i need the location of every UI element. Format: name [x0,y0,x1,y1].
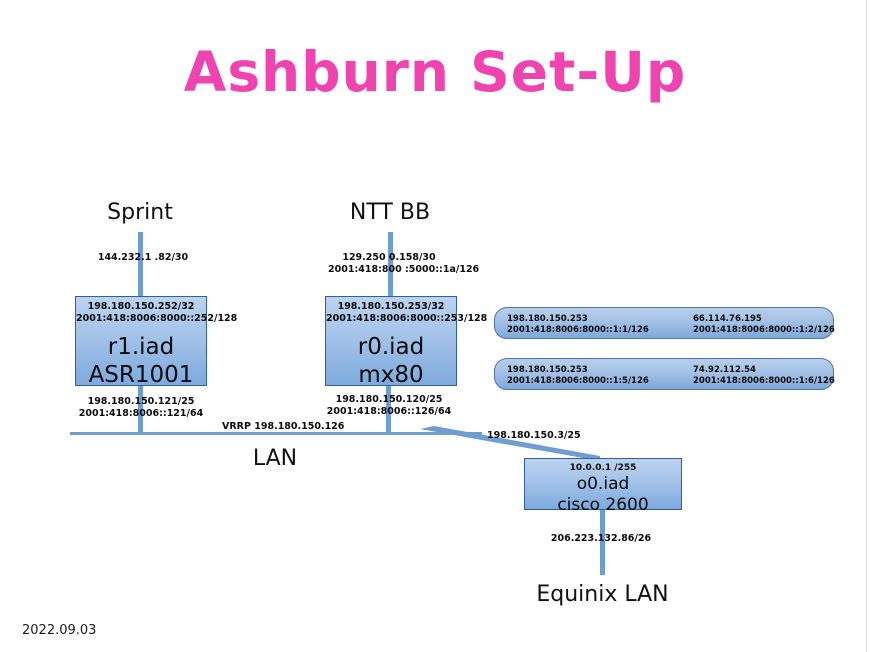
peer-2-local-ipv6: 2001:418:8006:8000::1:5/126 [507,376,649,387]
peer-2-local-ipv4: 198.180.150.253 [507,365,649,376]
router-r0-lan-ipv6: 2001:418:8006::126/64 [326,406,452,418]
ntt-uplink-ipv4: 129.250 0.158/30 [328,252,450,264]
router-r0-lan-ipv4: 198.180.150.120/25 [326,394,452,406]
router-r1-ipv4: 198.180.150.252/32 [76,297,206,313]
router-r0-name: r0.iad [326,325,456,361]
cloud-label-lan: LAN [220,446,330,471]
slide-canvas: Ashburn Set-Up Sprint 144.232.1 .82/30 1… [0,0,870,652]
router-r0-ipv6: 2001:418:8006:8000::253/128 [326,313,456,325]
peer-1-local: 198.180.150.253 2001:418:8006:8000::1:1/… [507,314,649,336]
router-r1-lan-ipv6: 2001:418:8006::121/64 [78,408,204,420]
page-title: Ashburn Set-Up [0,40,870,104]
footer-date: 2022.09.03 [22,623,96,638]
peer-1-local-ipv4: 198.180.150.253 [507,314,649,325]
peer-2-local: 198.180.150.253 2001:418:8006:8000::1:5/… [507,365,649,387]
router-r0-model: mx80 [326,361,456,389]
router-r1-name: r1.iad [76,325,206,361]
peer-2-remote-ipv4: 74.92.112.54 [693,365,835,376]
router-r1-lan-ipv4: 198.180.150.121/25 [78,396,204,408]
router-r1-iad[interactable]: 198.180.150.252/32 2001:418:8006:8000::2… [75,296,207,386]
router-o0-ipv4: 10.0.0.1 /255 [525,459,681,474]
router-r0-iad[interactable]: 198.180.150.253/32 2001:418:8006:8000::2… [325,296,457,386]
peer-2-remote: 74.92.112.54 2001:418:8006:8000::1:6/126 [693,365,835,387]
peer-1-remote-ipv6: 2001:418:8006:8000::1:2/126 [693,325,835,336]
router-r0-ipv4: 198.180.150.253/32 [326,297,456,313]
peer-1-remote: 66.114.76.195 2001:418:8006:8000::1:2/12… [693,314,835,336]
router-r1-ipv6: 2001:418:8006:8000::252/128 [76,313,206,325]
router-o0-name: o0.iad [525,474,681,495]
sprint-uplink-ipv4: 144.232.1 .82/30 [88,252,198,264]
peer-link-row-1: 198.180.150.253 2001:418:8006:8000::1:1/… [494,307,834,339]
peer-1-local-ipv6: 2001:418:8006:8000::1:1/126 [507,325,649,336]
peer-2-remote-ipv6: 2001:418:8006:8000::1:6/126 [693,376,835,387]
o0-downlink-ipv4: 206.223.132.86/26 [540,533,662,545]
o0-lan-ipv4: 198.180.150.3/25 [487,430,581,442]
peer-1-remote-ipv4: 66.114.76.195 [693,314,835,325]
cloud-label-ntt-bb: NTT BB [325,200,455,225]
ntt-uplink-ipv6: 2001:418:800 :5000::1a/126 [328,264,450,276]
link-sprint-to-r1 [138,232,143,297]
vrrp-label: VRRP 198.180.150.126 [222,421,344,433]
router-r1-model: ASR1001 [76,361,206,389]
cloud-label-sprint: Sprint [80,200,200,225]
peer-link-row-2: 198.180.150.253 2001:418:8006:8000::1:5/… [494,358,834,390]
cloud-label-equinix-lan: Equinix LAN [520,582,685,607]
router-o0-iad[interactable]: 10.0.0.1 /255 o0.iad cisco 2600 [524,458,682,510]
